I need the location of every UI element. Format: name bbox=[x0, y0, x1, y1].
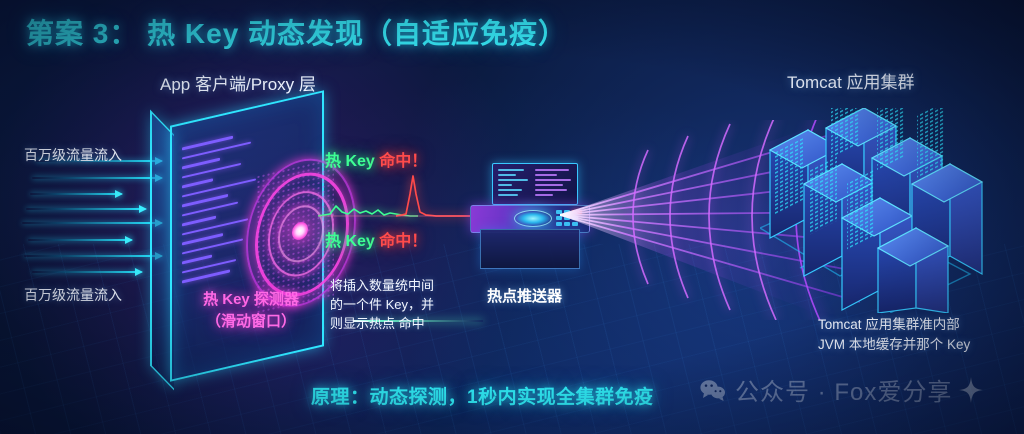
inflow-arrow bbox=[26, 208, 146, 210]
inflow-label-bottom: 百万级流量流入 bbox=[24, 285, 122, 305]
hotkey-hit-label-bottom: 热 Key 命中！ bbox=[325, 227, 427, 251]
inflow-label-top: 百万级流量流入 bbox=[24, 145, 122, 165]
description-line-3: 则显示热点 命中 bbox=[330, 315, 470, 334]
detector-description: 将插入数量统中间 的一个件 Key，并 则显示热点 命中 bbox=[330, 277, 470, 334]
pusher-caption: 热点推送器 bbox=[487, 285, 562, 306]
subtitle-tomcat-cluster: Tomcat 应用集群 bbox=[787, 68, 915, 93]
hit-label-hot-top: 热 Key bbox=[325, 153, 379, 170]
hotkey-hit-label-top: 热 Key 命中！ bbox=[325, 147, 427, 171]
tomcat-server-cluster bbox=[760, 108, 1024, 313]
wechat-icon bbox=[700, 379, 726, 401]
cluster-note-line-2: JVM 本地缓存并那个 Key bbox=[818, 335, 1024, 355]
hit-label-hit-top: 命中！ bbox=[379, 153, 427, 170]
inflow-arrow bbox=[30, 193, 122, 195]
cluster-note: Tomcat 应用集群准内部 JVM 本地缓存并那个 Key bbox=[818, 315, 1024, 356]
description-line-1: 将插入数量统中间 bbox=[330, 277, 470, 296]
hit-label-hit-bottom: 命中！ bbox=[379, 233, 427, 250]
inflow-arrow bbox=[32, 271, 142, 273]
inflow-arrow bbox=[28, 239, 132, 241]
waveform-spike-series bbox=[396, 176, 478, 216]
page-title: 第案 3： 热 Key 动态发现（自适应免疫） bbox=[26, 12, 567, 52]
slide-canvas: 第案 3： 热 Key 动态发现（自适应免疫） App 客户端/Proxy 层 … bbox=[0, 0, 1024, 434]
inflow-arrow bbox=[32, 177, 162, 179]
cluster-note-line-1: Tomcat 应用集群准内部 bbox=[818, 315, 1024, 335]
subtitle-client-proxy: App 客户端/Proxy 层 bbox=[160, 70, 316, 95]
principle-caption: 原理：动态探测，1秒内实现全集群免疫 bbox=[311, 382, 654, 409]
traffic-inflow-arrows bbox=[8, 160, 168, 280]
watermark: 公众号 · Fox爱分享 bbox=[700, 372, 983, 407]
waveform-svg bbox=[318, 170, 478, 228]
detector-caption: 热 Key 探测器 （滑动窗口） bbox=[186, 289, 316, 333]
inflow-arrow bbox=[22, 222, 162, 224]
hotkey-waveform-chart bbox=[318, 170, 478, 228]
hit-label-hot-bottom: 热 Key bbox=[325, 233, 379, 250]
description-line-2: 的一个件 Key，并 bbox=[330, 296, 470, 315]
sparkle-icon bbox=[959, 377, 983, 403]
detector-caption-window: （滑动窗口） bbox=[186, 311, 316, 333]
detector-caption-name: 热 Key 探测器 bbox=[203, 291, 299, 308]
console-radar-pad bbox=[514, 210, 552, 227]
watermark-text: 公众号 · Fox爱分享 bbox=[735, 372, 952, 407]
inflow-arrow bbox=[24, 255, 162, 257]
servers-svg bbox=[760, 108, 1024, 313]
